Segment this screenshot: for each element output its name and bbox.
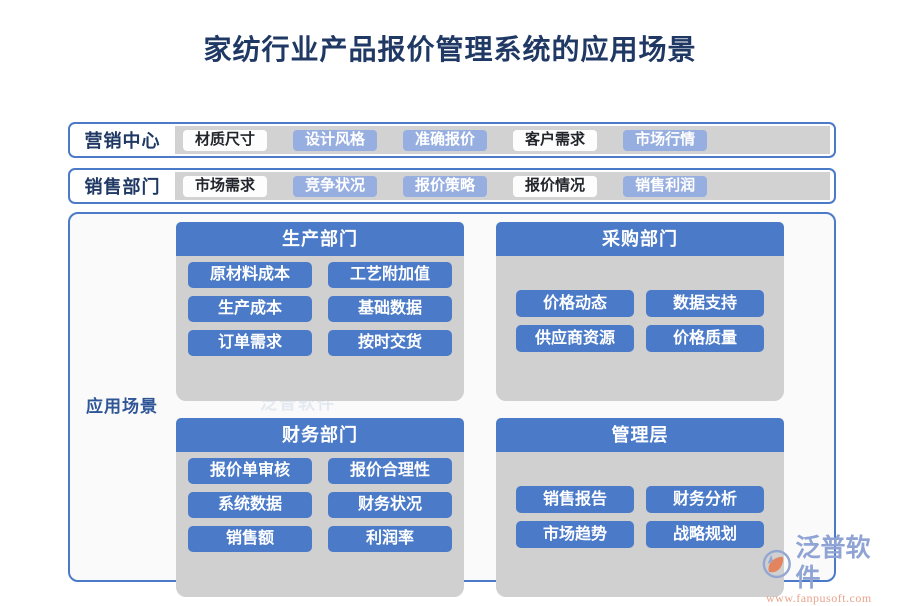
tag-quote-status[interactable]: 报价情况 bbox=[513, 176, 597, 197]
tag-sales-profit[interactable]: 销售利润 bbox=[623, 176, 707, 197]
sales-tag-strip: 市场需求 竞争状况 报价策略 报价情况 销售利润 bbox=[175, 172, 830, 200]
chip-row: 生产成本 基础数据 bbox=[188, 296, 452, 322]
tag-market-demand[interactable]: 市场需求 bbox=[183, 176, 267, 197]
row-label-sales: 销售部门 bbox=[70, 173, 175, 199]
chip-data-support[interactable]: 数据支持 bbox=[646, 290, 764, 317]
department-body-management: 销售报告 财务分析 市场趋势 战略规划 bbox=[496, 452, 784, 597]
chip-row: 销售额 利润率 bbox=[188, 526, 452, 552]
department-card-management: 管理层 销售报告 财务分析 市场趋势 战略规划 bbox=[496, 418, 784, 597]
tag-competition-status[interactable]: 竞争状况 bbox=[293, 176, 377, 197]
department-title-production: 生产部门 bbox=[176, 222, 464, 256]
department-card-purchasing: 采购部门 价格动态 数据支持 供应商资源 价格质量 bbox=[496, 222, 784, 401]
chip-supplier-resources[interactable]: 供应商资源 bbox=[516, 325, 634, 352]
chip-row: 市场趋势 战略规划 bbox=[508, 521, 772, 548]
chip-production-cost[interactable]: 生产成本 bbox=[188, 296, 312, 322]
chip-process-value-add[interactable]: 工艺附加值 bbox=[328, 262, 452, 288]
marketing-center-row: 营销中心 材质尺寸 设计风格 准确报价 客户需求 市场行情 bbox=[68, 122, 836, 158]
chip-row: 报价单审核 报价合理性 bbox=[188, 458, 452, 484]
marketing-tag-strip: 材质尺寸 设计风格 准确报价 客户需求 市场行情 bbox=[175, 126, 830, 154]
chip-sales-amount[interactable]: 销售额 bbox=[188, 526, 312, 552]
row-label-marketing: 营销中心 bbox=[70, 127, 175, 153]
chip-market-trend[interactable]: 市场趋势 bbox=[516, 521, 634, 548]
chip-system-data[interactable]: 系统数据 bbox=[188, 492, 312, 518]
scene-label: 应用场景 bbox=[86, 392, 158, 417]
tag-quote-strategy[interactable]: 报价策略 bbox=[403, 176, 487, 197]
department-body-purchasing: 价格动态 数据支持 供应商资源 价格质量 bbox=[496, 256, 784, 401]
chip-raw-material-cost[interactable]: 原材料成本 bbox=[188, 262, 312, 288]
department-body-production: 原材料成本 工艺附加值 生产成本 基础数据 订单需求 按时交货 bbox=[176, 256, 464, 401]
chip-row: 原材料成本 工艺附加值 bbox=[188, 262, 452, 288]
chip-price-dynamics[interactable]: 价格动态 bbox=[516, 290, 634, 317]
department-title-finance: 财务部门 bbox=[176, 418, 464, 452]
tag-design-style[interactable]: 设计风格 bbox=[293, 130, 377, 151]
chip-price-quality[interactable]: 价格质量 bbox=[646, 325, 764, 352]
tag-material-size[interactable]: 材质尺寸 bbox=[183, 130, 267, 151]
tag-accurate-quote[interactable]: 准确报价 bbox=[403, 130, 487, 151]
department-card-production: 生产部门 原材料成本 工艺附加值 生产成本 基础数据 订单需求 按时交货 bbox=[176, 222, 464, 401]
chip-row: 销售报告 财务分析 bbox=[508, 486, 772, 513]
brand-url: www.fanpusoft.com bbox=[766, 591, 894, 606]
chip-financial-analysis[interactable]: 财务分析 bbox=[646, 486, 764, 513]
tag-customer-demand[interactable]: 客户需求 bbox=[513, 130, 597, 151]
chip-on-time-delivery[interactable]: 按时交货 bbox=[328, 330, 452, 356]
page-title: 家纺行业产品报价管理系统的应用场景 bbox=[0, 0, 900, 72]
department-card-finance: 财务部门 报价单审核 报价合理性 系统数据 财务状况 销售额 利润率 bbox=[176, 418, 464, 597]
department-title-management: 管理层 bbox=[496, 418, 784, 452]
department-grid: 生产部门 原材料成本 工艺附加值 生产成本 基础数据 订单需求 按时交货 采购部… bbox=[176, 222, 816, 576]
department-title-purchasing: 采购部门 bbox=[496, 222, 784, 256]
chip-financial-status[interactable]: 财务状况 bbox=[328, 492, 452, 518]
application-scenario-panel: 应用场景 泛普软件 生产部门 原材料成本 工艺附加值 生产成本 基础数据 订单需… bbox=[68, 212, 836, 582]
chip-profit-rate[interactable]: 利润率 bbox=[328, 526, 452, 552]
chip-strategic-planning[interactable]: 战略规划 bbox=[646, 521, 764, 548]
department-body-finance: 报价单审核 报价合理性 系统数据 财务状况 销售额 利润率 bbox=[176, 452, 464, 597]
chip-row: 系统数据 财务状况 bbox=[188, 492, 452, 518]
chip-row: 订单需求 按时交货 bbox=[188, 330, 452, 356]
chip-order-demand[interactable]: 订单需求 bbox=[188, 330, 312, 356]
tag-market-conditions[interactable]: 市场行情 bbox=[623, 130, 707, 151]
chip-basic-data[interactable]: 基础数据 bbox=[328, 296, 452, 322]
chip-row: 价格动态 数据支持 bbox=[508, 290, 772, 317]
chip-sales-report[interactable]: 销售报告 bbox=[516, 486, 634, 513]
chip-quote-review[interactable]: 报价单审核 bbox=[188, 458, 312, 484]
chip-quote-rationality[interactable]: 报价合理性 bbox=[328, 458, 452, 484]
chip-row: 供应商资源 价格质量 bbox=[508, 325, 772, 352]
sales-department-row: 销售部门 市场需求 竞争状况 报价策略 报价情况 销售利润 bbox=[68, 168, 836, 204]
